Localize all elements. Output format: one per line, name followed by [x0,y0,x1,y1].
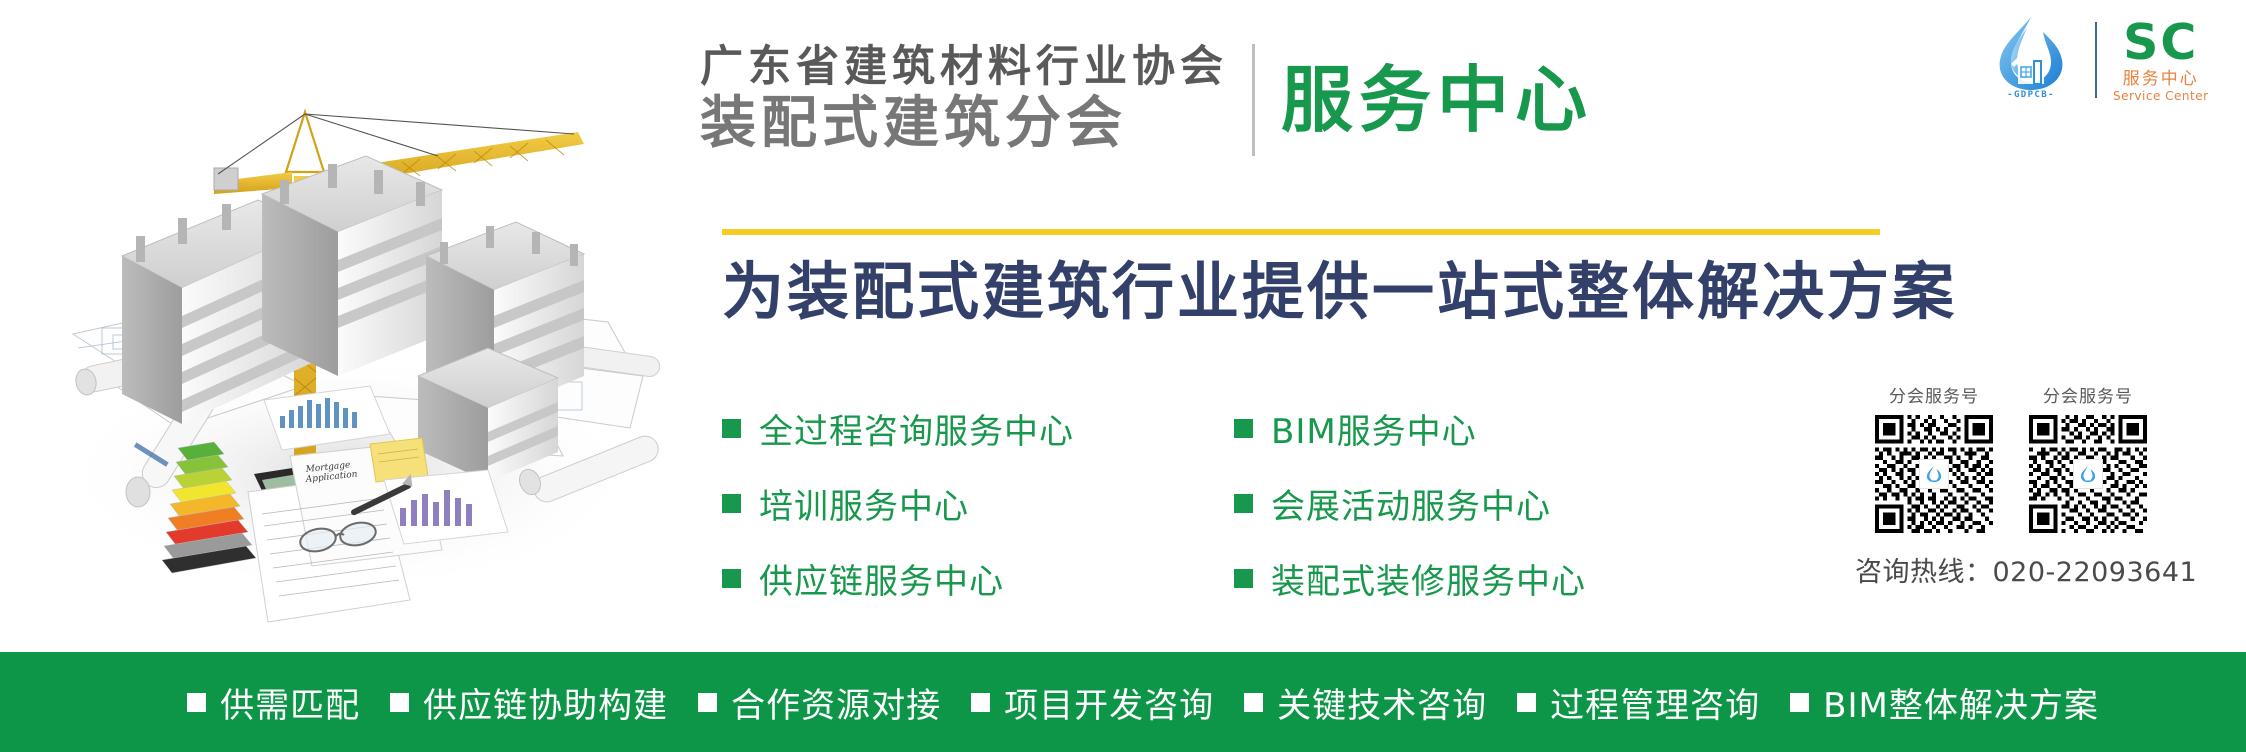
square-bullet-icon [722,494,741,513]
footer-label: 供应链协助构建 [423,678,668,727]
title-divider [1252,44,1255,156]
footer-item[interactable]: 关键技术咨询 [1244,678,1487,727]
service-column-right: BIM服务中心 会展活动服务中心 装配式装修服务中心 [1234,404,1586,603]
footer-service-bar: 供需匹配 供应链协助构建 合作资源对接 项目开发咨询 关键技术咨询 过程管理咨询 [0,652,2246,752]
list-item[interactable]: 会展活动服务中心 [1234,479,1586,528]
footer-item[interactable]: BIM整体解决方案 [1790,678,2099,727]
square-bullet-icon [1234,494,1253,513]
list-item[interactable]: BIM服务中心 [1234,404,1586,453]
logo-initials: SC [2123,18,2198,67]
organization-names: 广东省建筑材料行业协会 装配式建筑分会 [700,44,1252,155]
gold-divider-rule [722,229,1880,235]
footer-label: 项目开发咨询 [1004,678,1214,727]
logo-wordmark: SC 服务中心 Service Center [2113,18,2209,102]
qr-caption: 分会服务号 [2043,382,2133,407]
service-label: BIM服务中心 [1271,404,1477,453]
qr-center-logo-icon [1919,459,1949,489]
header-title-block: 广东省建筑材料行业协会 装配式建筑分会 服务中心 [700,44,1593,156]
logo-en-label: Service Center [2113,90,2209,102]
square-bullet-icon [722,569,741,588]
footer-item[interactable]: 过程管理咨询 [1517,678,1760,727]
footer-items: 供需匹配 供应链协助构建 合作资源对接 项目开发咨询 关键技术咨询 过程管理咨询 [147,678,2099,727]
org-name-line2: 装配式建筑分会 [700,93,1228,156]
square-bullet-icon [1790,693,1809,712]
square-bullet-icon [187,693,206,712]
footer-label: BIM整体解决方案 [1823,678,2099,727]
qr-code-group: 分会服务号 [1875,382,2147,533]
sticky-note [370,438,428,482]
service-label: 全过程咨询服务中心 [759,404,1074,453]
page-headline: 为装配式建筑行业提供一站式整体解决方案 [722,256,1957,327]
square-bullet-icon [698,693,717,712]
footer-label: 合作资源对接 [731,678,941,727]
brand-logo: -GDPCB- SC 服务中心 Service Center [1983,14,2209,106]
square-bullet-icon [722,419,741,438]
list-item[interactable]: 供应链服务中心 [722,554,1074,603]
service-label: 装配式装修服务中心 [1271,554,1586,603]
square-bullet-icon [1517,693,1536,712]
square-bullet-icon [1234,569,1253,588]
footer-item[interactable]: 供应链协助构建 [390,678,668,727]
bar-chart-report-purple [384,470,508,544]
service-column-left: 全过程咨询服务中心 培训服务中心 供应链服务中心 [722,404,1074,603]
qr-center-logo-icon [2073,459,2103,489]
square-bullet-icon [1234,419,1253,438]
service-label: 供应链服务中心 [759,554,1004,603]
square-bullet-icon [390,693,409,712]
qr-item: 分会服务号 [1875,382,1993,533]
list-item[interactable]: 全过程咨询服务中心 [722,404,1074,453]
qr-code-image-1[interactable] [1875,415,1993,533]
qr-caption: 分会服务号 [1889,382,1979,407]
logo-divider [2095,22,2097,98]
qr-item: 分会服务号 [2029,382,2147,533]
footer-label: 关键技术咨询 [1277,678,1487,727]
logo-cn-label: 服务中心 [2123,71,2199,88]
service-label: 培训服务中心 [759,479,969,528]
hotline-text: 咨询热线：020-22093641 [1855,550,2197,589]
footer-item[interactable]: 合作资源对接 [698,678,941,727]
promo-banner: Mortgage Application [0,0,2246,752]
list-item[interactable]: 培训服务中心 [722,479,1074,528]
service-label: 会展活动服务中心 [1271,479,1551,528]
construction-illustration: Mortgage Application [18,4,678,629]
logo-mark-caption: -GDPCB- [2007,90,2055,100]
service-center-title: 服务中心 [1281,64,1593,136]
list-item[interactable]: 装配式装修服务中心 [1234,554,1586,603]
square-bullet-icon [1244,693,1263,712]
footer-item[interactable]: 项目开发咨询 [971,678,1214,727]
square-bullet-icon [971,693,990,712]
footer-label: 供需匹配 [220,678,360,727]
gdpcb-flame-house-icon: -GDPCB- [1983,14,2079,106]
footer-item[interactable]: 供需匹配 [187,678,360,727]
footer-label: 过程管理咨询 [1550,678,1760,727]
org-name-line1: 广东省建筑材料行业协会 [700,44,1228,90]
qr-code-image-2[interactable] [2029,415,2147,533]
service-center-list: 全过程咨询服务中心 培训服务中心 供应链服务中心 BIM服务中心 会展活动服务中… [722,404,1586,603]
